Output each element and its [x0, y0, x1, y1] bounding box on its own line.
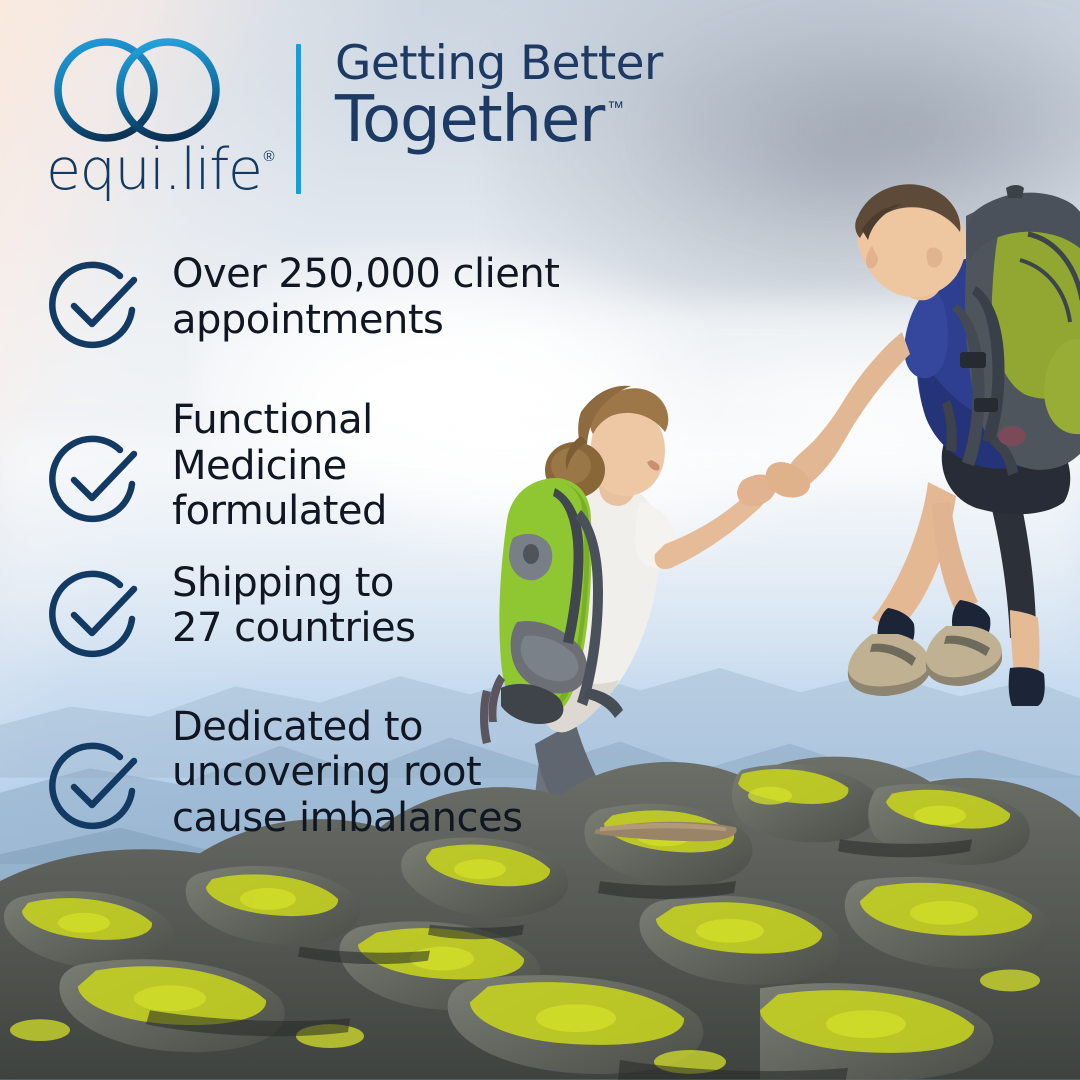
list-item: Shipping to 27 countries — [46, 557, 646, 663]
list-item-text: Over 250,000 client appointments — [172, 248, 559, 343]
wordmark-text: equi.life — [46, 142, 262, 199]
trademark-mark: ™ — [607, 99, 624, 116]
list-item: Dedicated to uncovering root cause imbal… — [46, 701, 646, 842]
list-item-text: Shipping to 27 countries — [172, 557, 415, 652]
logo-block[interactable]: equi.life ® — [44, 30, 274, 199]
list-item-text: Dedicated to uncovering root cause imbal… — [172, 701, 522, 842]
tagline-line-1: Getting Better — [335, 40, 663, 89]
wordmark: equi.life ® — [46, 142, 274, 199]
two-overlapping-rings-icon — [44, 34, 230, 146]
circle-check-icon — [46, 254, 146, 354]
promo-poster: equi.life ® Getting Better Together ™ — [0, 0, 1080, 1080]
list-item: Functional Medicine formulated — [46, 394, 646, 535]
list-item-text: Functional Medicine formulated — [172, 394, 387, 535]
tagline: Getting Better Together ™ — [335, 30, 663, 153]
circle-check-icon — [46, 735, 146, 835]
registered-mark: ® — [264, 149, 275, 164]
list-item: Over 250,000 client appointments — [46, 248, 646, 354]
content-overlay: equi.life ® Getting Better Together ™ — [0, 0, 1080, 1080]
brand-header: equi.life ® Getting Better Together ™ — [44, 30, 663, 199]
circle-check-icon — [46, 563, 146, 663]
feature-list: Over 250,000 client appointments Functio… — [46, 248, 646, 862]
header-divider — [296, 44, 301, 194]
circle-check-icon — [46, 428, 146, 528]
tagline-line-2: Together — [335, 87, 604, 154]
